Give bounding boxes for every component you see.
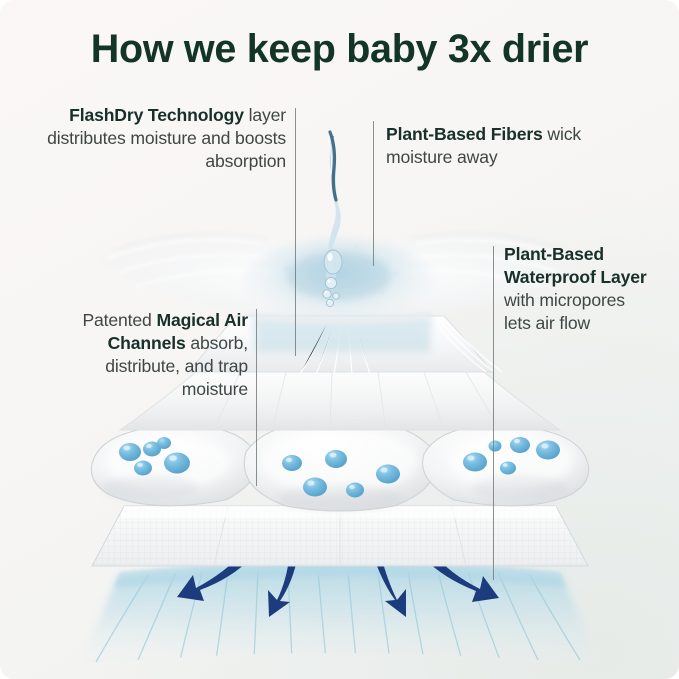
waterproof-micropore-layer (92, 506, 588, 566)
airflow-layer (80, 561, 600, 666)
infographic-canvas: How we keep baby 3x drier FlashDry Techn… (0, 0, 679, 679)
callout-waterproof: Plant-Based Waterproof Layer with microp… (504, 243, 654, 336)
airflow-arrow (373, 552, 406, 617)
airflow-arrow (177, 552, 251, 601)
airflow-arrow (268, 552, 298, 617)
callout-waterproof-title: Plant-Based Waterproof Layer (504, 244, 647, 287)
airflow-arrows (177, 552, 499, 617)
connector-line-channels (256, 309, 257, 486)
connector-line-fibers (373, 121, 374, 266)
callout-waterproof-body: with micropores lets air flow (504, 290, 625, 333)
callout-flashdry: FlashDry Technology layer distributes mo… (34, 104, 286, 173)
callout-fibers: Plant-Based Fibers wick moisture away (386, 123, 616, 169)
callout-fibers-title: Plant-Based Fibers (386, 124, 543, 144)
droplet-bubbles (323, 277, 339, 306)
airflow-arrow (424, 552, 499, 602)
falling-water-droplet (323, 132, 342, 307)
magical-air-channel-layer (91, 420, 588, 511)
callout-channels: Patented Magical Air Channels absorb, di… (60, 309, 248, 402)
page-title: How we keep baby 3x drier (0, 27, 679, 72)
connector-line-flashdry (295, 108, 296, 356)
callout-flashdry-title: FlashDry Technology (69, 105, 244, 125)
connector-line-waterproof (493, 246, 494, 580)
callout-channels-lead: Patented (82, 310, 156, 330)
